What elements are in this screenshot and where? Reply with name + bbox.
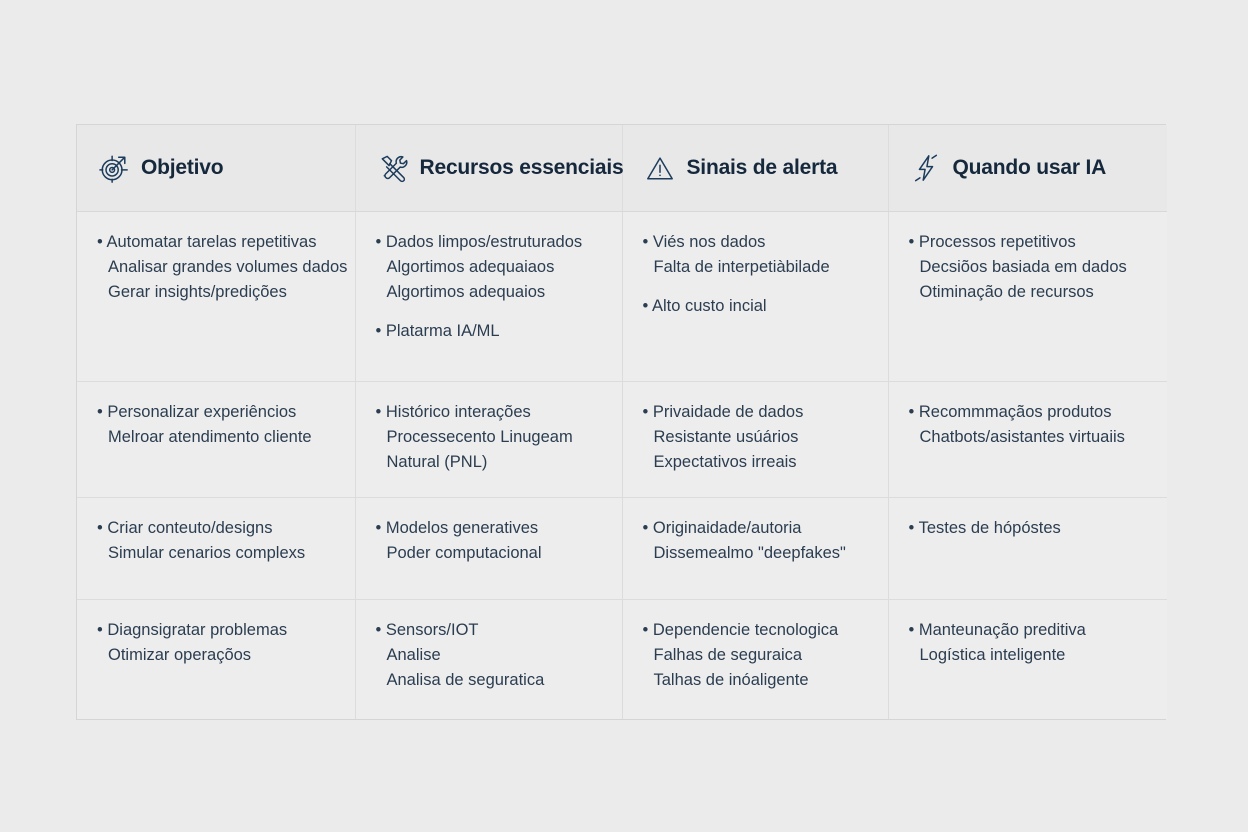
bullet-line: • Automatar tarelas repetitivas [97,230,337,255]
cell-r3c3: • Originaidade/autoriaDissemealmo "deepf… [622,497,888,599]
bullet-dot-icon: • [376,403,386,421]
bullet-list: • Sensors/IOTAnaliseAnalisa de seguratic… [376,618,604,693]
bullet-dot-icon: • [643,233,653,251]
bullet-line: • Modelos generatives [376,516,604,541]
bullet-list: • Personalizar experiênciosMelroar atend… [97,400,337,450]
list-item: • Modelos generativesPoder computacional [376,516,604,566]
bullet-subline: Analise [376,643,604,668]
bullet-list: • Viés nos dadosFalta de interpetiàbilad… [643,230,870,319]
cell-r1c1: • Automatar tarelas repetitivasAnalisar … [77,211,355,381]
bullet-line: • Manteunação preditiva [909,618,1150,643]
bullet-line: • Sensors/IOT [376,618,604,643]
bullet-list: • Automatar tarelas repetitivasAnalisar … [97,230,337,305]
bullet-list: • Dependencie tecnologicaFalhas de segur… [643,618,870,693]
bullet-line: • Personalizar experiêncios [97,400,337,425]
bullet-list: • Privaidade de dadosResistante usúários… [643,400,870,475]
bullet-list: • Diagnsigratar problemasOtimizar operaç… [97,618,337,668]
list-item: • Diagnsigratar problemasOtimizar operaç… [97,618,337,668]
cell-r3c1: • Criar conteuto/designsSimular cenarios… [77,497,355,599]
cell-r4c2: • Sensors/IOTAnaliseAnalisa de seguratic… [355,599,622,719]
bullet-list: • Processos repetitivosDecsiõos basiada … [909,230,1150,305]
bullet-subline: Gerar insights/predições [97,280,337,305]
matrix-table: Objetivo [77,125,1167,719]
bullet-subline: Melroar atendimento cliente [97,425,337,450]
cell-r4c4: • Manteunação preditivaLogística intelig… [888,599,1167,719]
bullet-dot-icon: • [909,519,919,537]
list-item: • Histórico interaçõesProcessecento Linu… [376,400,604,475]
bullet-subline: Dissemealmo "deepfakes" [643,541,870,566]
list-item: • Sensors/IOTAnaliseAnalisa de seguratic… [376,618,604,693]
bullet-dot-icon: • [909,403,919,421]
column-header-label: Quando usar IA [953,156,1107,180]
bullet-list: • Manteunação preditivaLogística intelig… [909,618,1150,668]
bullet-subline: Expectativos irreais [643,450,870,475]
hammer-wrench-icon [378,153,408,183]
bullet-dot-icon: • [97,233,106,251]
warning-triangle-icon [645,153,675,183]
column-header-label: Recursos essenciais [420,156,624,180]
bullet-subline: Poder computacional [376,541,604,566]
bullet-dot-icon: • [376,621,386,639]
bullet-subline: Algortimos adequaiaos [376,255,604,280]
list-item: • Manteunação preditivaLogística intelig… [909,618,1150,668]
bullet-subline: Algortimos adequaios [376,280,604,305]
column-header-sinais-de-alerta: Sinais de alerta [622,125,888,211]
list-item: • Testes de hópóstes [909,516,1150,541]
bullet-dot-icon: • [643,297,652,315]
bullet-list: • Criar conteuto/designsSimular cenarios… [97,516,337,566]
bullet-line: • Testes de hópóstes [909,516,1150,541]
cell-r3c2: • Modelos generativesPoder computacional [355,497,622,599]
bullet-line: • Dependencie tecnologica [643,618,870,643]
table-row: • Criar conteuto/designsSimular cenarios… [77,497,1167,599]
list-item: • Dependencie tecnologicaFalhas de segur… [643,618,870,693]
bullet-line: • Criar conteuto/designs [97,516,337,541]
bullet-dot-icon: • [643,519,653,537]
bullet-line: • Originaidade/autoria [643,516,870,541]
table-row: • Diagnsigratar problemasOtimizar operaç… [77,599,1167,719]
bullet-list: • Histórico interaçõesProcessecento Linu… [376,400,604,475]
table-row: • Automatar tarelas repetitivasAnalisar … [77,211,1167,381]
list-item: • Criar conteuto/designsSimular cenarios… [97,516,337,566]
list-item: • Viés nos dadosFalta de interpetiàbilad… [643,230,870,280]
bullet-subline: Falta de interpetiàbilade [643,255,870,280]
cell-r2c3: • Privaidade de dadosResistante usúários… [622,381,888,497]
bullet-dot-icon: • [97,519,107,537]
list-item: • Alto custo incial [643,294,870,319]
list-item: • Dados limpos/estruturadosAlgortimos ad… [376,230,604,305]
bullet-list: • Modelos generativesPoder computacional [376,516,604,566]
cell-r2c1: • Personalizar experiênciosMelroar atend… [77,381,355,497]
bullet-line: • Platarma IA/ML [376,319,604,344]
list-item: • Platarma IA/ML [376,319,604,344]
list-item: • Recommmaçãos produtosChatbots/asistant… [909,400,1150,450]
cell-r1c3: • Viés nos dadosFalta de interpetiàbilad… [622,211,888,381]
header-row: Objetivo [77,125,1167,211]
bullet-line: • Viés nos dados [643,230,870,255]
column-header-objetivo: Objetivo [77,125,355,211]
bullet-list: • Recommmaçãos produtosChatbots/asistant… [909,400,1150,450]
list-item: • Personalizar experiênciosMelroar atend… [97,400,337,450]
bullet-line: • Processos repetitivos [909,230,1150,255]
bullet-subline: Logística inteligente [909,643,1150,668]
bullet-line: • Recommmaçãos produtos [909,400,1150,425]
page-canvas: Objetivo [0,0,1248,832]
matrix-body: • Automatar tarelas repetitivasAnalisar … [77,211,1167,719]
bullet-list: • Originaidade/autoriaDissemealmo "deepf… [643,516,870,566]
bullet-subline: Falhas de seguraica [643,643,870,668]
cell-r4c1: • Diagnsigratar problemasOtimizar operaç… [77,599,355,719]
bullet-subline: Chatbots/asistantes virtuaiis [909,425,1150,450]
bullet-dot-icon: • [376,233,386,251]
bullet-subline: Analisar grandes volumes dados [97,255,337,280]
cell-r3c4: • Testes de hópóstes [888,497,1167,599]
column-header-quando-usar-ia: Quando usar IA [888,125,1167,211]
bullet-subline: Resistante usúários [643,425,870,450]
bullet-list: • Testes de hópóstes [909,516,1150,541]
bullet-dot-icon: • [909,233,919,251]
bullet-dot-icon: • [97,621,107,639]
bullet-subline: Decsiõos basiada em dados [909,255,1150,280]
bullet-dot-icon: • [643,403,653,421]
bullet-dot-icon: • [643,621,653,639]
bullet-dot-icon: • [909,621,919,639]
bullet-line: • Dados limpos/estruturados [376,230,604,255]
bullet-subline: Analisa de seguratica [376,668,604,693]
bullet-line: • Privaidade de dados [643,400,870,425]
matrix-header: Objetivo [77,125,1167,211]
bullet-list: • Dados limpos/estruturadosAlgortimos ad… [376,230,604,344]
bullet-subline: Processecento Linugeam [376,425,604,450]
bullet-line: • Diagnsigratar problemas [97,618,337,643]
cell-r1c2: • Dados limpos/estruturadosAlgortimos ad… [355,211,622,381]
comparison-matrix: Objetivo [76,124,1166,720]
list-item: • Privaidade de dadosResistante usúários… [643,400,870,475]
target-icon [99,153,129,183]
bullet-line: • Histórico interações [376,400,604,425]
table-row: • Personalizar experiênciosMelroar atend… [77,381,1167,497]
cell-r2c2: • Histórico interaçõesProcessecento Linu… [355,381,622,497]
column-header-recursos-essenciais: Recursos essenciais [355,125,622,211]
bullet-subline: Otiminação de recursos [909,280,1150,305]
bullet-subline: Simular cenarios complexs [97,541,337,566]
bullet-dot-icon: • [97,403,107,421]
lightning-bolt-icon [911,153,941,183]
column-header-label: Objetivo [141,156,223,180]
bullet-subline: Talhas de inóaligente [643,668,870,693]
list-item: • Automatar tarelas repetitivasAnalisar … [97,230,337,305]
column-header-label: Sinais de alerta [687,156,838,180]
list-item: • Originaidade/autoriaDissemealmo "deepf… [643,516,870,566]
bullet-subline: Otimizar operaçõos [97,643,337,668]
cell-r2c4: • Recommmaçãos produtosChatbots/asistant… [888,381,1167,497]
bullet-dot-icon: • [376,519,386,537]
bullet-dot-icon: • [376,322,386,340]
bullet-subline: Natural (PNL) [376,450,604,475]
list-item: • Processos repetitivosDecsiõos basiada … [909,230,1150,305]
cell-r4c3: • Dependencie tecnologicaFalhas de segur… [622,599,888,719]
cell-r1c4: • Processos repetitivosDecsiõos basiada … [888,211,1167,381]
bullet-line: • Alto custo incial [643,294,870,319]
